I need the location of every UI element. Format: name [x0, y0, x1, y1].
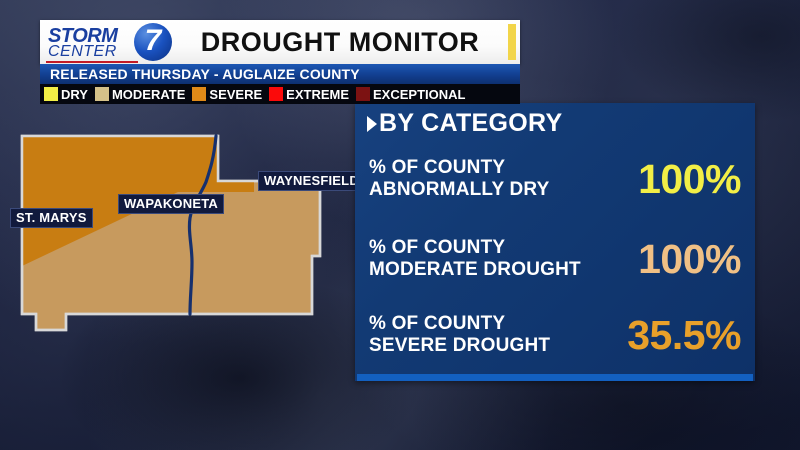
stat-label-line2: ABNORMALLY DRY — [369, 179, 591, 201]
panel-bottom-accent — [357, 374, 753, 381]
triangle-right-icon — [367, 116, 377, 132]
legend-label-moderate: MODERATE — [112, 87, 185, 102]
drought-monitor-graphic: ST. MARYS WAPAKONETA WAYNESFIELD BY CATE… — [0, 0, 800, 450]
legend-swatch-icon-dry — [44, 87, 58, 101]
legend-swatch-icon-moderate — [95, 87, 109, 101]
map-city-label-waynesfield: WAYNESFIELD — [258, 171, 365, 191]
stat-row-moderate-drought: % OF COUNTY MODERATE DROUGHT 100% — [369, 227, 745, 291]
subtitle-bar: RELEASED THURSDAY - AUGLAIZE COUNTY — [40, 64, 520, 84]
page-title: DROUGHT MONITOR — [180, 27, 508, 58]
map-city-label-wapakoneta: WAPAKONETA — [118, 194, 224, 214]
legend-swatch-icon-severe — [192, 87, 206, 101]
channel-7-badge-icon: 7 — [134, 23, 172, 61]
legend-label-dry: DRY — [61, 87, 88, 102]
legend-item-moderate: MODERATE — [95, 87, 185, 102]
logo-underline-rule — [46, 61, 138, 63]
logo-center-text: CENTER — [48, 43, 117, 61]
legend-item-severe: SEVERE — [192, 87, 262, 102]
header-accent-bar — [508, 24, 516, 60]
map-city-label-st-marys: ST. MARYS — [10, 208, 93, 228]
legend-label-extreme: EXTREME — [286, 87, 349, 102]
legend-label-severe: SEVERE — [209, 87, 262, 102]
stat-label-line1: % OF COUNTY — [369, 157, 591, 179]
stat-label-line2: SEVERE DROUGHT — [369, 335, 591, 357]
legend-swatch-icon-exceptional — [356, 87, 370, 101]
legend-item-exceptional: EXCEPTIONAL — [356, 87, 465, 102]
stat-row-abnormally-dry: % OF COUNTY ABNORMALLY DRY 100% — [369, 147, 745, 211]
stat-label-line1: % OF COUNTY — [369, 313, 591, 335]
legend-label-exceptional: EXCEPTIONAL — [373, 87, 465, 102]
storm-center-7-logo: STORM CENTER 7 — [40, 20, 180, 64]
stat-value-moderate-drought: 100% — [591, 236, 745, 283]
stat-label-line2: MODERATE DROUGHT — [369, 259, 591, 281]
stat-label-severe-drought: % OF COUNTY SEVERE DROUGHT — [369, 313, 591, 358]
panel-title: BY CATEGORY — [367, 109, 562, 138]
drought-legend: DRY MODERATE SEVERE EXTREME EXCEPTIONAL — [40, 84, 520, 104]
stat-row-severe-drought: % OF COUNTY SEVERE DROUGHT 35.5% — [369, 303, 745, 367]
stat-value-abnormally-dry: 100% — [591, 156, 745, 203]
legend-item-dry: DRY — [44, 87, 88, 102]
stat-label-line1: % OF COUNTY — [369, 237, 591, 259]
by-category-panel: BY CATEGORY % OF COUNTY ABNORMALLY DRY 1… — [355, 103, 755, 381]
legend-item-extreme: EXTREME — [269, 87, 349, 102]
county-map: ST. MARYS WAPAKONETA WAYNESFIELD — [0, 96, 400, 386]
stat-label-moderate-drought: % OF COUNTY MODERATE DROUGHT — [369, 237, 591, 282]
county-map-shapes — [0, 96, 400, 386]
legend-swatch-icon-extreme — [269, 87, 283, 101]
panel-title-text: BY CATEGORY — [379, 109, 562, 138]
header-bar: STORM CENTER 7 DROUGHT MONITOR — [40, 20, 520, 64]
stat-label-abnormally-dry: % OF COUNTY ABNORMALLY DRY — [369, 157, 591, 202]
stat-value-severe-drought: 35.5% — [591, 312, 745, 359]
